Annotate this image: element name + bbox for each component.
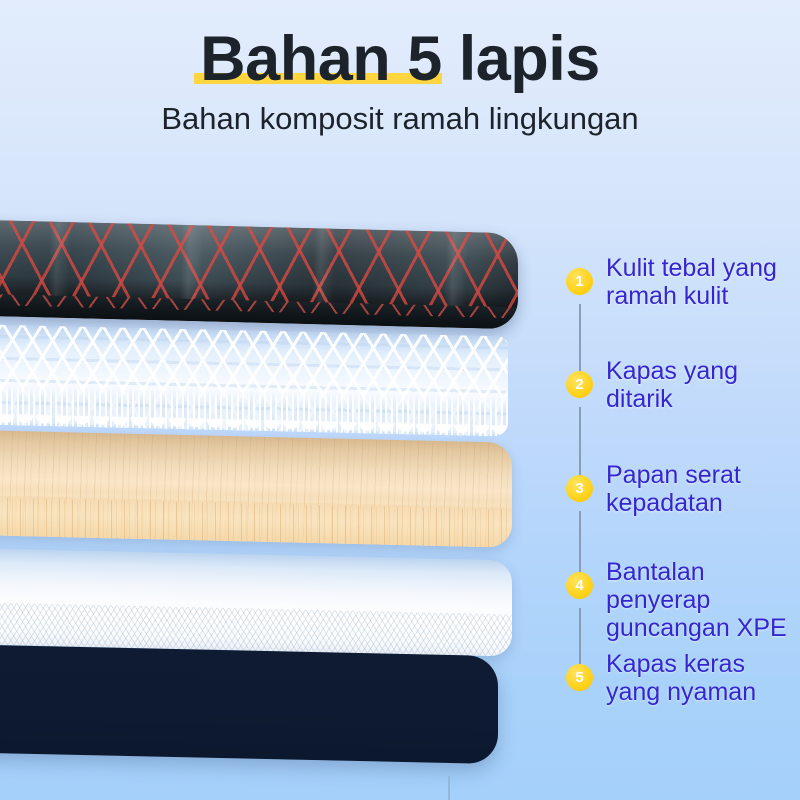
legend-badge-3: 3 (566, 475, 593, 502)
page-title: Bahan 5 lapis (194, 24, 606, 94)
layer-4-xpe-foam (0, 548, 512, 657)
page-subtitle: Bahan komposit ramah lingkungan (0, 100, 800, 138)
layer-5-hard-cotton (0, 644, 498, 764)
legend-label-4: Bantalan penyerap guncangan XPE (606, 558, 800, 642)
legend-badge-5: 5 (566, 664, 593, 691)
title-block: Bahan 5 lapis (194, 24, 606, 94)
legend-label-1: Kulit tebal yang ramah kulit (606, 254, 800, 310)
legend-badge-1: 1 (566, 268, 593, 295)
layer-1-quilted-leather (0, 219, 518, 330)
infographic-page: Bahan 5 lapis Bahan komposit ramah lingk… (0, 0, 800, 800)
legend-label-3: Papan serat kepadatan (606, 461, 800, 517)
legend-label-5: Kapas keras yang nyaman (606, 650, 800, 706)
legend-connector-2-3 (579, 407, 581, 476)
legend-label-2: Kapas yang ditarik (606, 357, 800, 413)
legend-connector-1-2 (579, 304, 581, 372)
legend-connector-4-5 (579, 608, 581, 665)
legend-badge-4: 4 (566, 572, 593, 599)
legend-badge-2: 2 (566, 371, 593, 398)
legend-connector-3-4 (579, 511, 581, 573)
header: Bahan 5 lapis Bahan komposit ramah lingk… (0, 0, 800, 138)
bottom-tick-mark (448, 776, 450, 800)
layer-3-fiberboard (0, 429, 512, 547)
layer-2-cotton-mesh (0, 324, 508, 437)
